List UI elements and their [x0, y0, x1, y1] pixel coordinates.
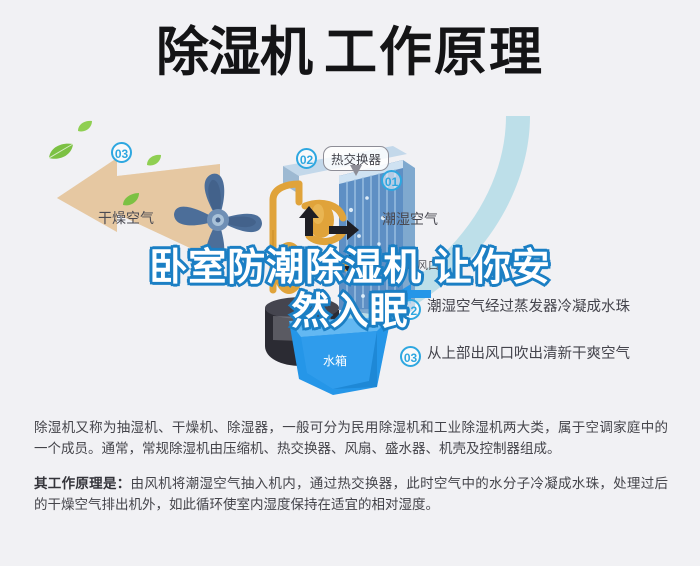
body-paragraph-2-lead: 其工作原理是：: [34, 476, 131, 491]
badge-03-dry-air: 03: [111, 142, 132, 163]
page-title-part2: 工作原理: [324, 22, 544, 84]
step-line-03: 03从上部出风口吹出清新干爽空气: [400, 342, 630, 367]
water-tank-graphic: 水箱: [285, 315, 395, 395]
badge-01-humid-air: 01: [381, 170, 402, 191]
body-paragraph-2: 其工作原理是：由风机将潮湿空气抽入机内，通过热交换器，此时空气中的水分子冷凝成水…: [34, 473, 668, 515]
leaf-icon: [77, 120, 93, 134]
badge-02-heat-exchanger: 02: [296, 148, 317, 169]
body-copy: 除湿机又称为抽湿机、干燥机、除湿器，一般可分为民用除湿机和工业除湿机两大类，属于…: [34, 417, 668, 529]
illustration-stage: 水箱 03 干燥空气 02 热交换器 01 潮湿空气 由进风口 02潮湿空气经过…: [0, 110, 700, 400]
step-line-02: 02潮湿空气经过蒸发器冷凝成水珠: [400, 295, 630, 320]
leaf-icon: [48, 142, 74, 162]
page-title-part1: 除湿机: [156, 22, 312, 84]
label-dry-air: 干燥空气: [98, 208, 154, 228]
step-text-03: 从上部出风口吹出清新干爽空气: [427, 346, 630, 362]
badge-step-02: 02: [400, 299, 421, 320]
obscured-text-fragment: 由进风口: [395, 257, 439, 273]
label-humid-air: 潮湿空气: [382, 209, 438, 229]
callout-tail-icon: [350, 165, 362, 176]
step-text-02: 潮湿空气经过蒸发器冷凝成水珠: [427, 299, 630, 315]
body-paragraph-1: 除湿机又称为抽湿机、干燥机、除湿器，一般可分为民用除湿机和工业除湿机两大类，属于…: [34, 417, 668, 459]
infographic-page: 除湿机工作原理: [0, 0, 700, 566]
page-title: 除湿机工作原理: [0, 22, 700, 84]
badge-step-03: 03: [400, 346, 421, 367]
water-tank-label-text: 水箱: [323, 353, 347, 368]
leaf-icon: [122, 192, 140, 208]
leaf-icon: [146, 154, 162, 168]
